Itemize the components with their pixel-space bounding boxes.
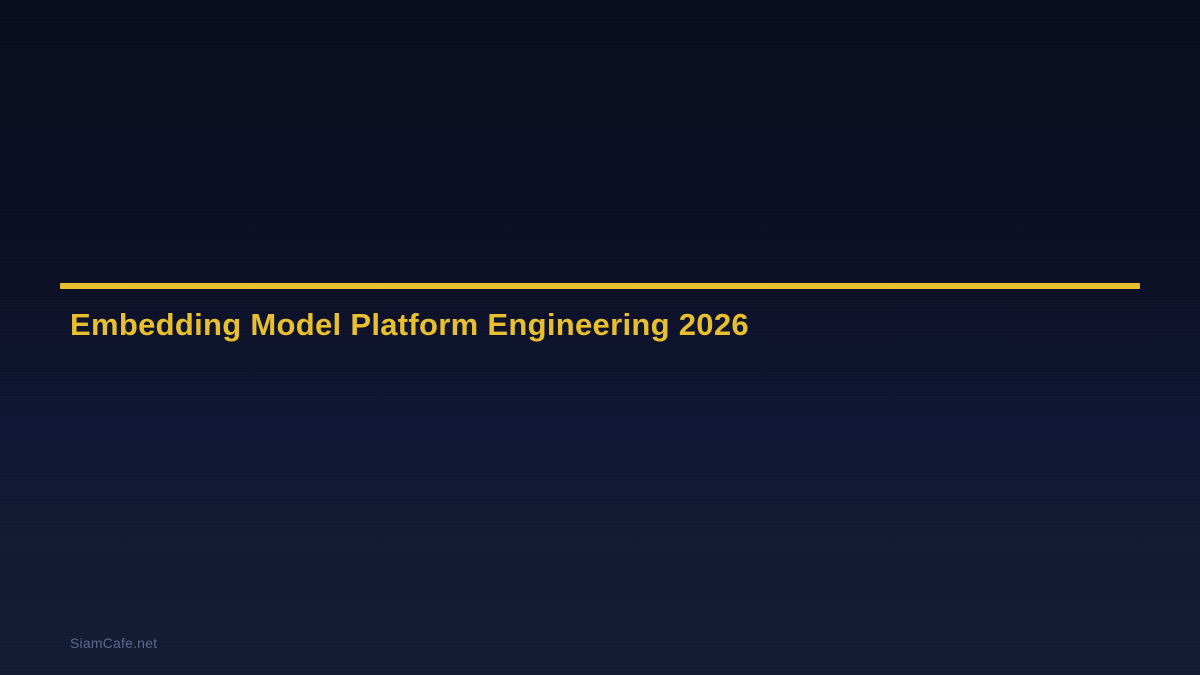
presentation-slide: Embedding Model Platform Engineering 202… [0,0,1200,675]
slide-footer: SiamCafe.net [70,635,157,653]
page-title: Embedding Model Platform Engineering 202… [70,306,1140,345]
title-block: Embedding Model Platform Engineering 202… [60,283,1140,345]
footer-attribution: SiamCafe.net [70,635,157,651]
accent-rule [60,283,1140,289]
